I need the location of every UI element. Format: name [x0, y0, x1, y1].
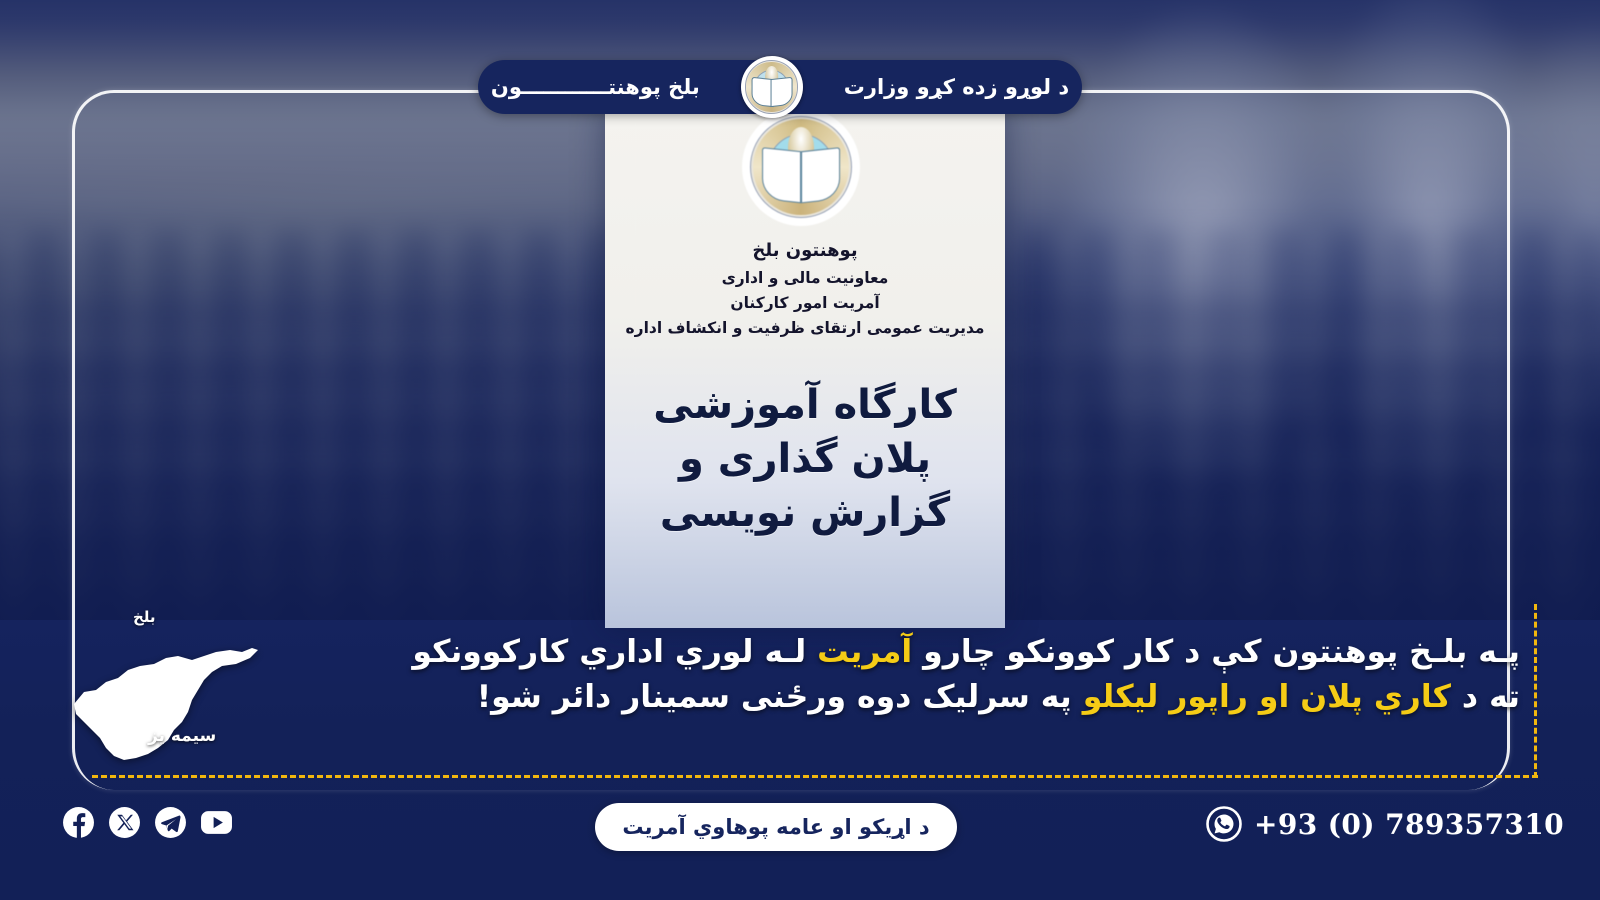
banner-org-line-4: مدیریت عمومی ارتقای ظرفیت و انکشاف اداره: [626, 316, 985, 341]
balkh-university-seal-icon: [741, 56, 803, 118]
banner-text-block: پوهنتون بلخ معاونیت مالی و اداری آمریت ا…: [605, 108, 1005, 628]
department-label: د اړیکو او عامه پوهاوي آمریت: [622, 815, 929, 839]
headline-l2-part1: ته د: [1451, 679, 1520, 715]
phone-number: +93 (0) 789357310: [1254, 808, 1564, 841]
headline-l2-part2: په سرلیک دوه ورځنی سمینار دائر شو!: [477, 679, 1083, 715]
telegram-icon[interactable]: [154, 806, 187, 839]
headline-line-2: ته د کاري پلان او راپور لیکلو په سرلیک د…: [120, 675, 1520, 720]
header-logo-slot: [726, 60, 818, 114]
headline-l1-part2: لـه لوري اداري کارکوونکو: [412, 634, 817, 670]
department-badge: د اړیکو او عامه پوهاوي آمریت: [595, 803, 957, 851]
dashed-vertical-rule: [1534, 604, 1537, 778]
afghanistan-map-shape-icon: [62, 608, 262, 778]
banner-title-line-3: گزارش نویسی: [653, 487, 957, 541]
contact-phone: +93 (0) 789357310: [1206, 806, 1564, 842]
headline-l1-highlight: آمریت: [817, 634, 912, 670]
headline-text: پـه بلـخ پوهنتون کې د کار کوونکو چارو آم…: [120, 630, 1520, 719]
banner-org-line-2: معاونیت مالی و اداری: [626, 266, 985, 291]
university-label: بلخ پوهنتــــــــــــون: [491, 77, 726, 98]
afghanistan-map-graphic: بلخ سیمه یز: [62, 608, 262, 778]
map-org-label: سیمه یز: [148, 726, 216, 746]
banner-title: کارگاه آموزشی پلان گذاری و گزارش نویسی: [653, 379, 957, 540]
headline-l2-highlight: کاري پلان او راپور لیکلو: [1083, 679, 1451, 715]
headline-l1-part1: پـه بلـخ پوهنتون کې د کار کوونکو چارو: [912, 634, 1520, 670]
headline-line-1: پـه بلـخ پوهنتون کې د کار کوونکو چارو آم…: [120, 630, 1520, 675]
map-region-label: بلخ: [133, 608, 156, 626]
banner-org-line-3: آمریت امور کارکنان: [626, 291, 985, 316]
header-title-bar: د لوړو زده کړو وزارت بلخ پوهنتــــــــــ…: [478, 60, 1082, 114]
banner-org-lines: پوهنتون بلخ معاونیت مالی و اداری آمریت ا…: [626, 236, 985, 341]
poster-canvas: پوهنتون بلخ معاونیت مالی و اداری آمریت ا…: [0, 0, 1600, 900]
banner-org-line-1: پوهنتون بلخ: [626, 236, 985, 265]
social-links: [62, 806, 233, 839]
ministry-label: د لوړو زده کړو وزارت: [818, 77, 1069, 98]
x-twitter-icon[interactable]: [108, 806, 141, 839]
facebook-icon[interactable]: [62, 806, 95, 839]
whatsapp-icon[interactable]: [1206, 806, 1242, 842]
dashed-horizontal-rule: [92, 775, 1538, 778]
banner-title-line-2: پلان گذاری و: [653, 433, 957, 487]
banner-title-line-1: کارگاه آموزشی: [653, 379, 957, 433]
youtube-icon[interactable]: [200, 806, 233, 839]
